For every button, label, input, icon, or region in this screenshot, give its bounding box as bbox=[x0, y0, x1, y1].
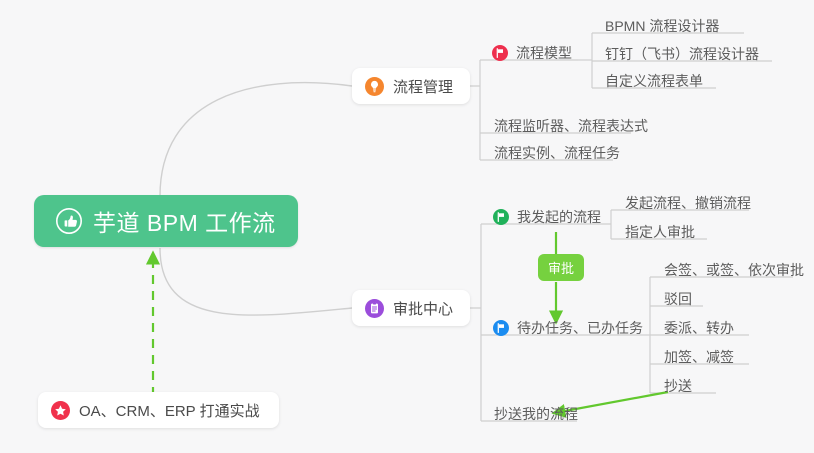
root-label: 芋道 BPM 工作流 bbox=[93, 204, 276, 238]
node-carbon-copy-label: 抄送 bbox=[664, 376, 692, 396]
branch-approval-center[interactable]: 审批中心 bbox=[352, 290, 470, 326]
node-listener-expression[interactable]: 流程监听器、流程表达式 bbox=[489, 114, 650, 140]
node-custom-process-form-label: 自定义流程表单 bbox=[605, 71, 703, 91]
footnote-label: OA、CRM、ERP 打通实战 bbox=[79, 400, 260, 421]
footnote-node[interactable]: OA、CRM、ERP 打通实战 bbox=[38, 392, 279, 428]
node-reject[interactable]: 驳回 bbox=[659, 287, 694, 313]
flag-red-icon bbox=[492, 45, 508, 61]
approval-badge[interactable]: 审批 bbox=[538, 254, 584, 281]
node-todo-done-task-label: 待办任务、已办任务 bbox=[517, 318, 643, 338]
root-node[interactable]: 芋道 BPM 工作流 bbox=[34, 195, 298, 247]
flag-green-icon bbox=[493, 209, 509, 225]
node-cc-to-me-process-label: 抄送我的流程 bbox=[494, 404, 578, 424]
mindmap-canvas: 芋道 BPM 工作流 OA、CRM、ERP 打通实战 流程管理 bbox=[0, 0, 814, 453]
node-start-cancel-process[interactable]: 发起流程、撤销流程 bbox=[620, 191, 753, 217]
node-carbon-copy[interactable]: 抄送 bbox=[659, 374, 694, 400]
thumbs-up-icon bbox=[56, 208, 82, 234]
branch-process-management-label: 流程管理 bbox=[393, 76, 453, 97]
lightbulb-icon bbox=[365, 77, 384, 96]
node-todo-done-task[interactable]: 待办任务、已办任务 bbox=[490, 316, 645, 342]
node-my-started-process[interactable]: 我发起的流程 bbox=[490, 205, 603, 231]
approval-badge-label: 审批 bbox=[548, 258, 574, 277]
node-custom-process-form[interactable]: 自定义流程表单 bbox=[600, 69, 705, 95]
node-instance-task-label: 流程实例、流程任务 bbox=[494, 143, 620, 163]
branch-approval-center-label: 审批中心 bbox=[393, 298, 453, 319]
node-countersign-label: 会签、或签、依次审批 bbox=[664, 260, 804, 280]
node-process-model-label: 流程模型 bbox=[516, 43, 572, 63]
node-assignee-approval-label: 指定人审批 bbox=[625, 222, 695, 242]
star-icon bbox=[51, 401, 70, 420]
node-bpmn-designer[interactable]: BPMN 流程设计器 bbox=[600, 14, 721, 40]
edge-root-to-process-management bbox=[160, 83, 352, 196]
node-instance-task[interactable]: 流程实例、流程任务 bbox=[489, 141, 622, 167]
node-start-cancel-process-label: 发起流程、撤销流程 bbox=[625, 193, 751, 213]
branch-process-management[interactable]: 流程管理 bbox=[352, 68, 470, 104]
node-dingtalk-feishu-designer[interactable]: 钉钉（飞书）流程设计器 bbox=[600, 42, 761, 68]
flag-blue-icon bbox=[493, 320, 509, 336]
node-countersign[interactable]: 会签、或签、依次审批 bbox=[659, 258, 806, 284]
node-my-started-process-label: 我发起的流程 bbox=[517, 207, 601, 227]
edge-root-to-approval-center bbox=[160, 248, 352, 315]
node-assignee-approval[interactable]: 指定人审批 bbox=[620, 220, 697, 246]
node-cc-to-me-process[interactable]: 抄送我的流程 bbox=[489, 402, 580, 428]
node-add-remove-sign-label: 加签、减签 bbox=[664, 347, 734, 367]
node-process-model[interactable]: 流程模型 bbox=[489, 41, 574, 67]
clipboard-icon bbox=[365, 299, 384, 318]
node-dingtalk-feishu-designer-label: 钉钉（飞书）流程设计器 bbox=[605, 44, 759, 64]
node-delegate-transfer[interactable]: 委派、转办 bbox=[659, 316, 736, 342]
node-reject-label: 驳回 bbox=[664, 289, 692, 309]
node-add-remove-sign[interactable]: 加签、减签 bbox=[659, 345, 736, 371]
node-bpmn-designer-label: BPMN 流程设计器 bbox=[605, 16, 719, 36]
node-delegate-transfer-label: 委派、转办 bbox=[664, 318, 734, 338]
node-listener-expression-label: 流程监听器、流程表达式 bbox=[494, 116, 648, 136]
